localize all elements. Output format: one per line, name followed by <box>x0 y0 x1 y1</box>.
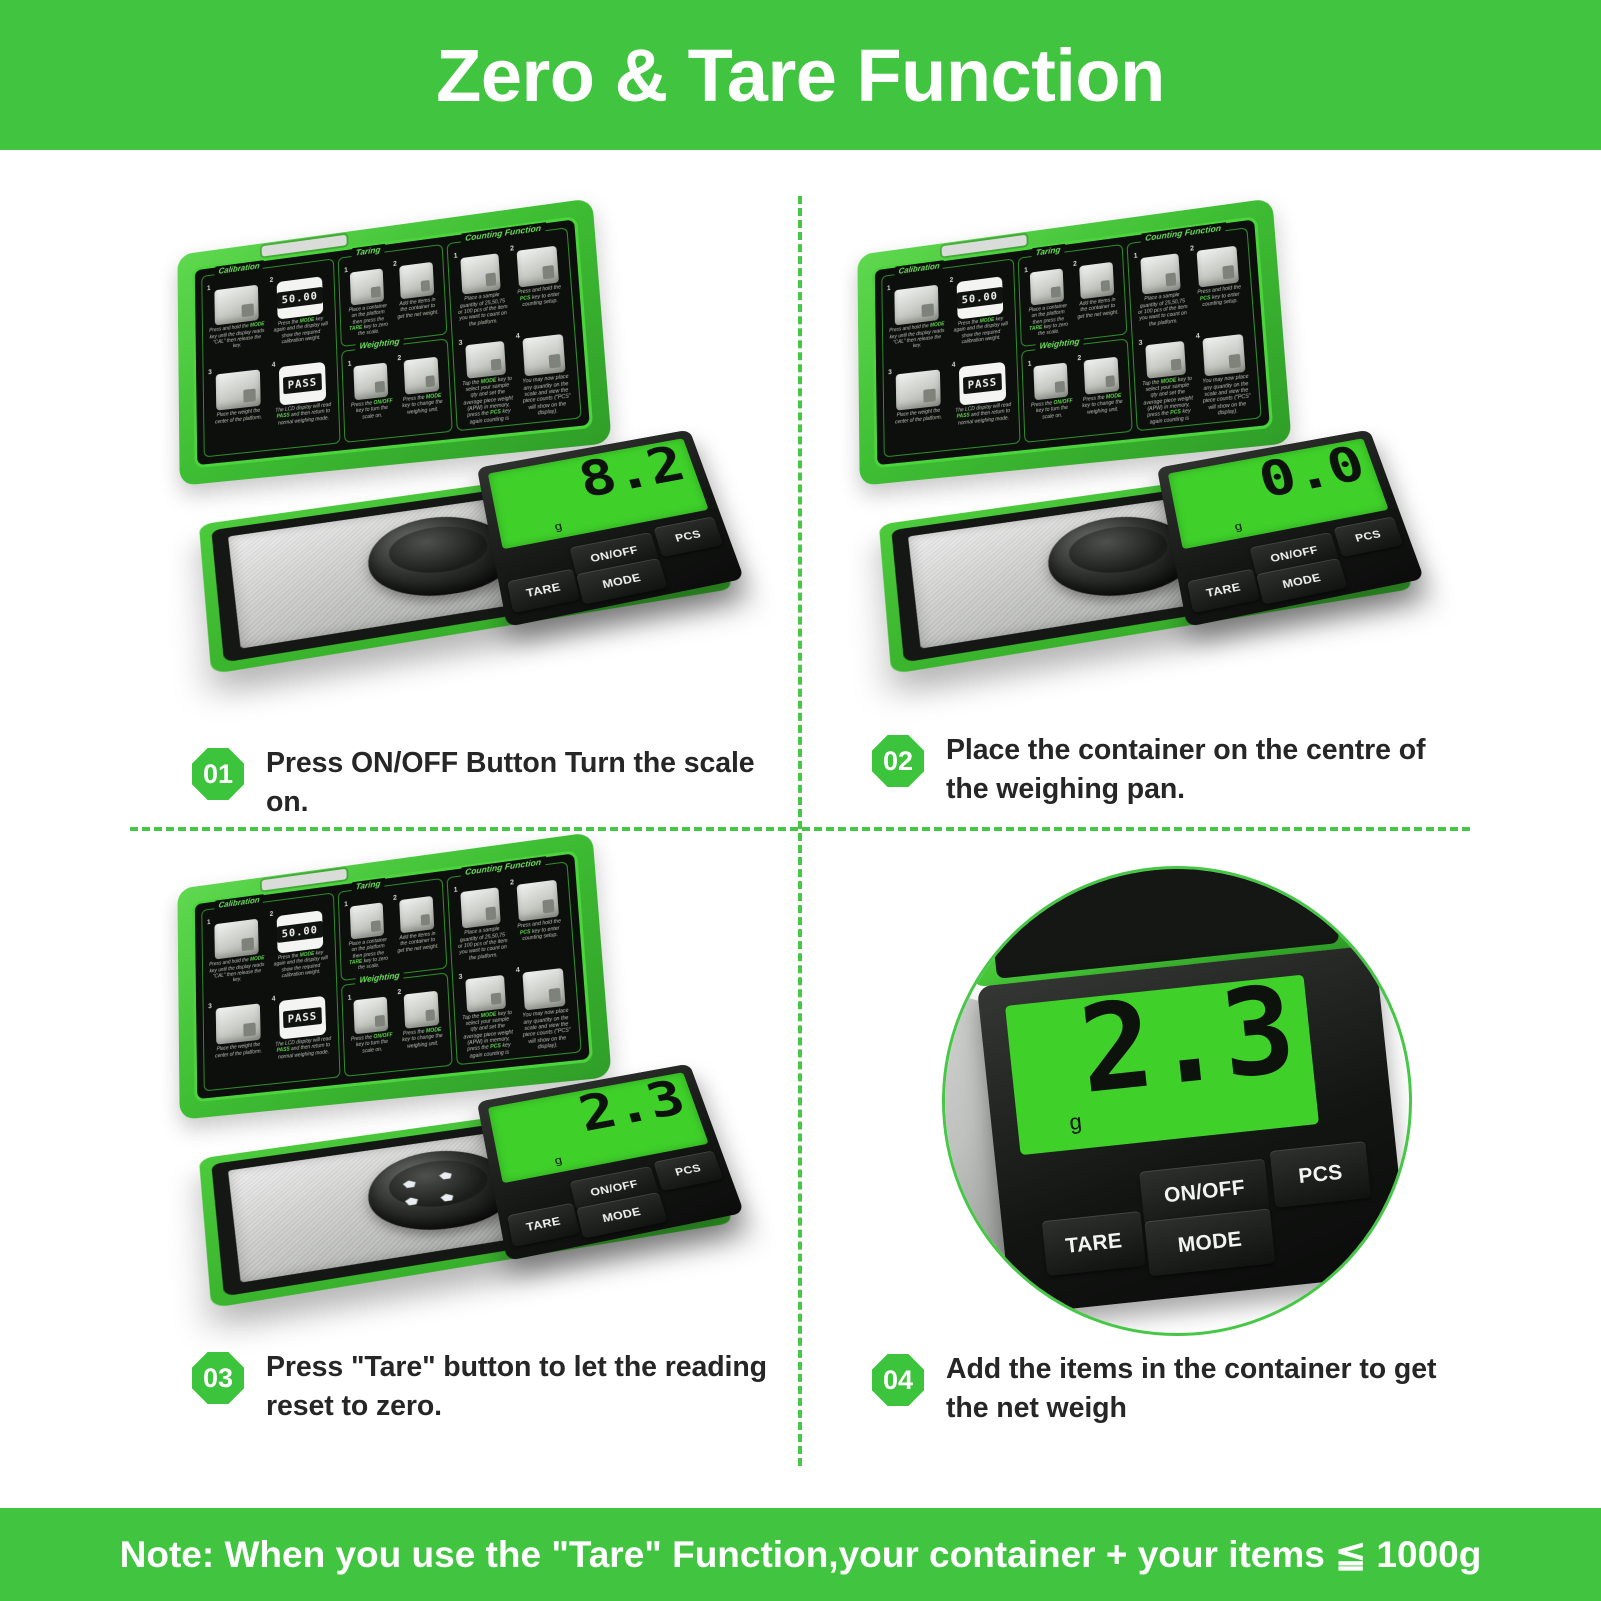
gem-icon <box>438 1171 453 1180</box>
step-caption-text-03: Press "Tare" button to let the reading r… <box>266 1348 792 1427</box>
mini-scale-icon <box>216 1003 261 1045</box>
panel-cell: 1Press the ON/OFF key to turn the scale … <box>347 356 397 439</box>
step-caption-01: 01 Press ON/OFF Button Turn the scale on… <box>192 744 792 823</box>
horizontal-divider <box>130 827 1470 831</box>
cell-caption: Press the ON/OFF key to turn the scale o… <box>348 396 396 422</box>
panel-section-taring: Taring 1Place a container on the platfor… <box>1018 244 1128 347</box>
step-panel-04: 2.3 g TARE ON/OFF MODE PCS 04 Add the it… <box>810 840 1470 1460</box>
display-head-02: 0.0 g TARE ON/OFF MODE PCS <box>1157 430 1424 627</box>
step-caption-text-04: Add the items in the container to get th… <box>946 1350 1472 1429</box>
mini-scale-icon <box>517 246 559 288</box>
tare-button[interactable]: TARE <box>1187 569 1260 613</box>
mini-lcd-value: PASS <box>283 373 322 394</box>
page-title: Zero & Tare Function <box>436 33 1165 118</box>
panel-section-counting: Counting Function 1Place a sample quanti… <box>447 227 582 431</box>
step-caption-04: 04 Add the items in the container to get… <box>872 1350 1472 1429</box>
footer-banner: Note: When you use the "Tare" Function,y… <box>0 1508 1601 1601</box>
mini-scale-icon <box>350 902 385 939</box>
display-head-03: 2.3 g TARE ON/OFF MODE PCS <box>477 1064 744 1261</box>
lcd-unit: g <box>553 1154 563 1168</box>
magnified-keypad: TARE ON/OFF MODE PCS <box>1037 1141 1377 1285</box>
tare-button[interactable]: TARE <box>1042 1211 1146 1276</box>
step-badge-04: 04 <box>872 1354 924 1406</box>
lcd-value: 0.0 <box>1254 440 1370 505</box>
cell-caption: Tap the MODE key to select your sample q… <box>460 373 518 426</box>
step-caption-03: 03 Press "Tare" button to let the readin… <box>192 1348 792 1427</box>
panel-cell: 2Press the MODE key to change the weighi… <box>396 350 448 433</box>
mini-scale-icon <box>403 357 439 395</box>
panel-section-weighting: Weighting 1Press the ON/OFF key to turn … <box>341 338 453 443</box>
panel-section-counting: Counting Function 1Place a sample quanti… <box>447 861 582 1065</box>
scale-lid-03: Calibration 1Press and hold the MODE key… <box>177 832 611 1120</box>
display-head-01: 8.2 g TARE ON/OFF MODE PCS <box>477 430 744 627</box>
mini-lcd-icon: PASS <box>279 996 326 1040</box>
mini-scale-icon <box>1033 362 1068 400</box>
mini-scale-icon <box>1079 262 1114 299</box>
panel-cell: 1Place a sample quantity of 25,50,75 or … <box>452 246 511 337</box>
panel-section-taring: Taring 1Place a container on the platfor… <box>338 878 448 981</box>
lcd-unit: g <box>1233 520 1243 534</box>
panel-cell: 4PASSThe LCD display will read PASS and … <box>271 355 336 446</box>
section-label-taring: Taring <box>352 244 385 258</box>
mini-lcd-icon: PASS <box>279 362 326 406</box>
pcs-button[interactable]: PCS <box>1333 516 1403 557</box>
gem-icon <box>440 1193 455 1202</box>
vertical-divider <box>798 196 802 1466</box>
panel-section-counting: Counting Function 1Place a sample quanti… <box>1127 227 1262 431</box>
tare-button[interactable]: TARE <box>507 1203 580 1247</box>
scale-lid-01: Calibration 1Press and hold the MODE key… <box>177 198 611 486</box>
magnified-body: 2.3 g TARE ON/OFF MODE PCS <box>977 945 1409 1315</box>
mini-scale-icon <box>460 253 501 295</box>
scale-illustration-02: Calibration 1Press and hold the MODE key… <box>840 216 1440 716</box>
cell-caption: Place a sample quantity of 25,50,75 or 1… <box>455 289 511 329</box>
step-badge-01: 01 <box>192 748 244 800</box>
mini-lcd-icon: PASS <box>959 362 1006 406</box>
step-badge-03: 03 <box>192 1352 244 1404</box>
cell-caption: Press the MODE key to change the weighin… <box>398 390 447 417</box>
panel-cell: 3Tap the MODE key to select your sample … <box>457 334 517 427</box>
mini-scale-icon <box>350 268 385 305</box>
mini-lcd-icon: 50.00 <box>277 276 324 319</box>
magnified-lcd-display: 2.3 g <box>1005 975 1319 1156</box>
footer-note-text: Note: When you use the "Tare" Function,y… <box>120 1533 1482 1576</box>
instruction-panel-01: Calibration 1Press and hold the MODE key… <box>192 216 593 468</box>
pcs-button[interactable]: PCS <box>653 1150 723 1191</box>
step-badge-02: 02 <box>872 735 924 787</box>
panel-section-weighting: Weighting 1Press the ON/OFF key to turn … <box>341 972 453 1077</box>
mini-scale-icon <box>465 975 506 1013</box>
panel-cell: 1Place a container on the platform then … <box>343 262 392 343</box>
mini-scale-icon <box>403 991 439 1029</box>
lcd-unit: g <box>1068 1109 1083 1136</box>
infographic-page: Zero & Tare Function Calibration 1Press … <box>0 0 1601 1601</box>
mini-scale-icon <box>896 369 941 411</box>
scale-lid-02: Calibration 1Press and hold the MODE key… <box>857 198 1291 486</box>
mini-scale-icon <box>353 362 388 400</box>
mini-scale-icon <box>1030 268 1065 305</box>
mini-scale-icon <box>214 919 258 960</box>
mini-lcd-icon: 50.00 <box>277 910 324 953</box>
mini-scale-icon <box>1083 357 1119 395</box>
step-caption-text-01: Press ON/OFF Button Turn the scale on. <box>266 744 792 823</box>
gem-icon <box>404 1197 419 1206</box>
cell-caption: You may now place any quantity on the sc… <box>517 371 576 419</box>
mini-scale-icon <box>1197 246 1239 288</box>
mini-scale-icon <box>216 369 261 411</box>
panel-section-weighting: Weighting 1Press the ON/OFF key to turn … <box>1021 338 1133 443</box>
lcd-unit: g <box>553 520 563 534</box>
panel-section-calibration: Calibration 1Press and hold the MODE key… <box>201 258 341 457</box>
panel-section-calibration: Calibration 1Press and hold the MODE key… <box>201 892 341 1091</box>
step-panel-03: Calibration 1Press and hold the MODE key… <box>130 840 790 1460</box>
mini-scale-icon <box>353 996 388 1034</box>
mode-button[interactable]: MODE <box>1145 1209 1275 1277</box>
mini-scale-icon <box>399 262 434 299</box>
lcd-value: 2.3 <box>574 1074 690 1139</box>
panel-cell: 3Place the weight the center of the plat… <box>207 363 270 453</box>
cell-caption: Place a container on the platform then p… <box>345 300 393 339</box>
pcs-button[interactable]: PCS <box>653 516 723 557</box>
gem-icon <box>402 1180 417 1189</box>
mini-scale-icon <box>460 887 501 929</box>
instruction-panel-03: Calibration 1Press and hold the MODE key… <box>192 850 593 1102</box>
step-caption-text-02: Place the container on the centre of the… <box>946 731 1472 810</box>
mini-scale-icon <box>1145 341 1186 379</box>
magnified-display-view: 2.3 g TARE ON/OFF MODE PCS <box>942 866 1412 1336</box>
panel-cell: 4You may now place any quantity on the s… <box>515 327 577 421</box>
mini-scale-icon <box>465 341 506 379</box>
panel-cell: 1Press and hold the MODE key until the d… <box>206 278 268 367</box>
lcd-value: 2.3 <box>1074 970 1299 1112</box>
mini-scale-icon <box>523 334 566 377</box>
mini-scale-icon <box>399 896 434 933</box>
mini-scale-icon <box>214 285 258 326</box>
mini-scale-icon <box>523 968 566 1011</box>
header-banner: Zero & Tare Function <box>0 0 1601 150</box>
scale-illustration-01: Calibration 1Press and hold the MODE key… <box>160 216 760 716</box>
section-label-counting: Counting Function <box>461 222 546 243</box>
mini-scale-icon <box>517 880 559 922</box>
panel-section-taring: Taring 1Place a container on the platfor… <box>338 244 448 347</box>
scale-illustration-03: Calibration 1Press and hold the MODE key… <box>160 850 760 1350</box>
mini-scale-icon <box>1140 253 1181 295</box>
pcs-button[interactable]: PCS <box>1270 1141 1371 1208</box>
section-label-calibration: Calibration <box>214 260 264 276</box>
instruction-panel-02: Calibration 1Press and hold the MODE key… <box>872 216 1273 468</box>
mini-lcd-value: 50.00 <box>277 287 323 309</box>
step-panel-01: Calibration 1Press and hold the MODE key… <box>130 196 790 816</box>
panel-cell: 2Add the items in the container to get t… <box>392 255 443 336</box>
mini-scale-icon <box>1203 334 1246 377</box>
tare-button[interactable]: TARE <box>507 569 580 613</box>
lcd-value: 8.2 <box>574 440 690 505</box>
panel-cell: 250.00Press the MODE key again and the d… <box>269 269 333 359</box>
step-caption-02: 02 Place the container on the centre of … <box>872 731 1472 810</box>
panel-cell: 2Press and hold the PCS key to enter cou… <box>509 239 570 331</box>
panel-section-calibration: Calibration 1Press and hold the MODE key… <box>881 258 1021 457</box>
mini-lcd-icon: 50.00 <box>957 276 1004 319</box>
step-panel-02: Calibration 1Press and hold the MODE key… <box>810 196 1470 816</box>
mini-scale-icon <box>894 285 938 326</box>
